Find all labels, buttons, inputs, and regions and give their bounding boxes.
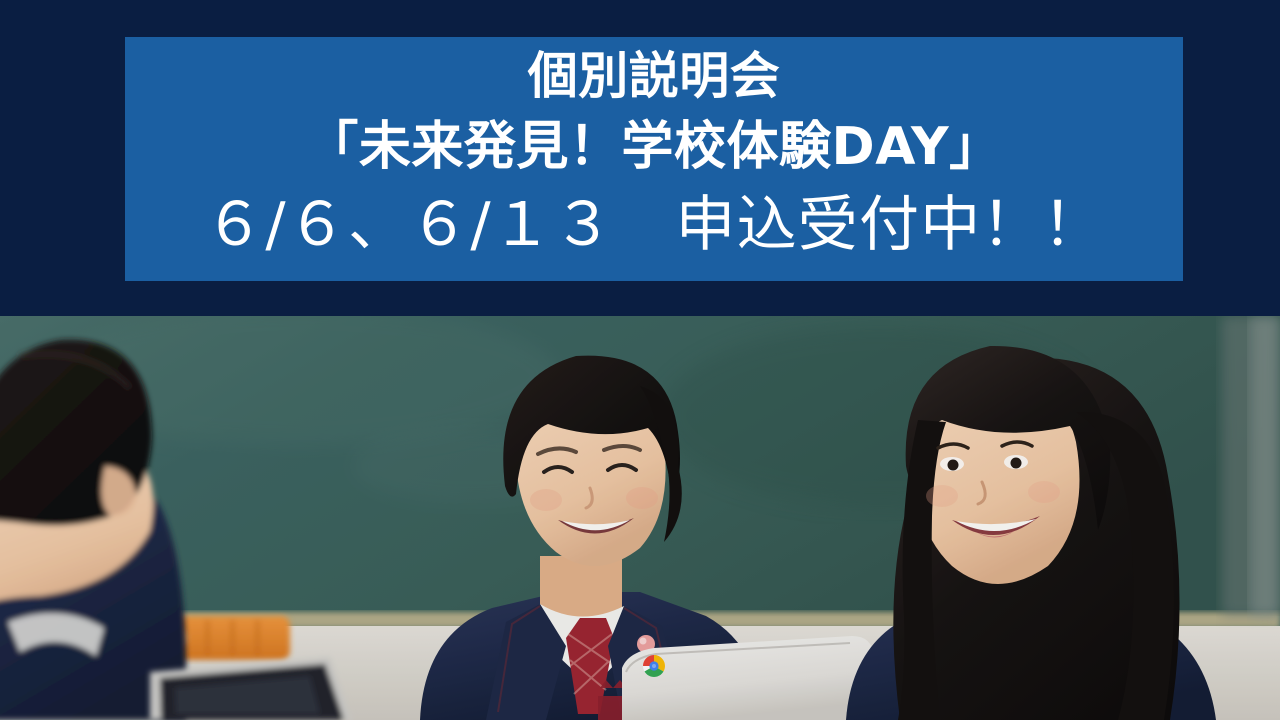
photo-illustration [0, 316, 1280, 720]
classroom-photo [0, 316, 1280, 720]
banner-line-3: ６/６、６/１３ 申込受付中！！ [204, 195, 1104, 255]
banner-line-1: 個別説明会 [528, 51, 781, 101]
announcement-banner: 個別説明会 「未来発見！学校体験DAY」 ６/６、６/１３ 申込受付中！！ [125, 37, 1183, 281]
banner-line-2: 「未来発見！学校体験DAY」 [306, 121, 1001, 173]
poster-root: 個別説明会 「未来発見！学校体験DAY」 ６/６、６/１３ 申込受付中！！ [0, 0, 1280, 720]
